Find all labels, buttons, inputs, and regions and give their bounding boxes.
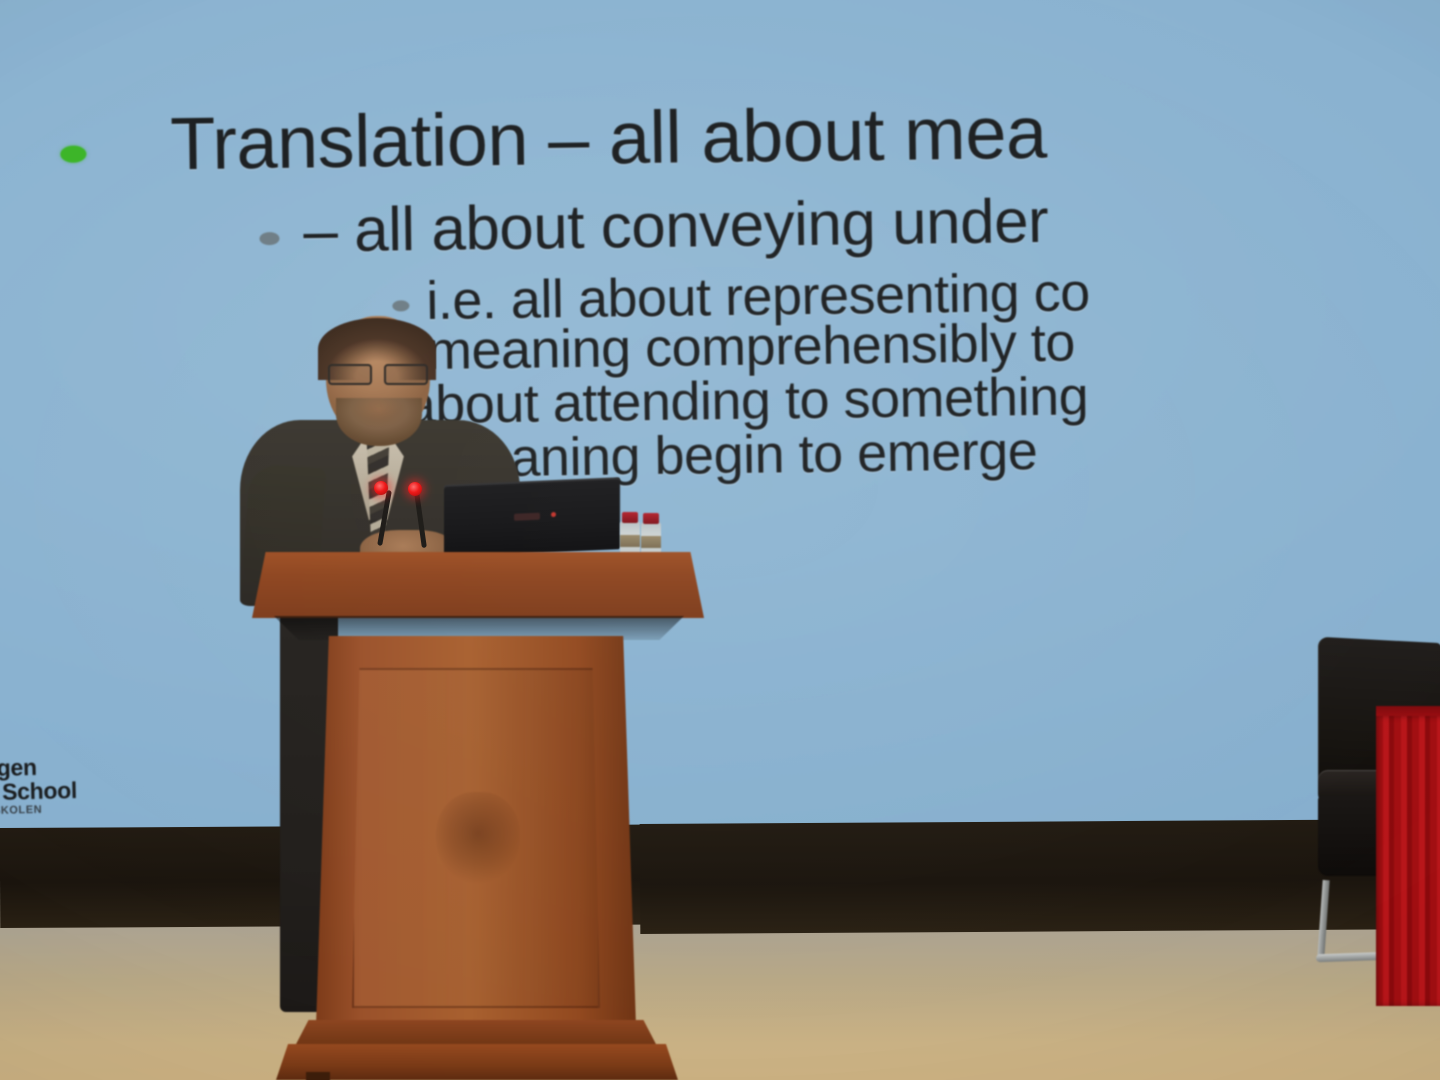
projection-screen: Translation – all about mea – all about … [0, 0, 1440, 854]
laptop-indicator-dot [551, 512, 556, 517]
podium-top [252, 552, 704, 618]
bullet-dot-level2 [259, 232, 279, 245]
cbs-logo: enhagen ness School ELSHØJSKOLEN [0, 754, 78, 819]
slide-line-6: meaning begin to emerge [436, 420, 1038, 490]
cbs-logo-line-2: ness School [0, 778, 77, 805]
podium-plinth [276, 1044, 678, 1080]
podium-notch [306, 1072, 330, 1080]
microphone-led-left [374, 481, 388, 495]
bullet-dot-level3 [392, 300, 409, 311]
video-frame: Translation – all about mea – all about … [0, 0, 1440, 1080]
red-drape [1376, 716, 1440, 1006]
bottle-label [641, 536, 661, 548]
podium-base [294, 1020, 658, 1048]
laptop [444, 477, 620, 557]
podium [250, 552, 710, 1080]
bottle-cap [622, 512, 638, 523]
bottle-label [620, 535, 640, 547]
laptop-logo [514, 512, 540, 520]
slide-content: Translation – all about mea – all about … [0, 0, 1440, 854]
slide-line-2: – all about conveying under [303, 186, 1049, 267]
slide-line-1: Translation – all about mea [170, 90, 1047, 186]
bullet-dot-level1 [60, 145, 86, 162]
podium-crest-emblem [436, 792, 520, 884]
bottle-cap [643, 513, 659, 524]
glasses-icon [326, 364, 430, 382]
microphone-led-right [408, 482, 422, 496]
